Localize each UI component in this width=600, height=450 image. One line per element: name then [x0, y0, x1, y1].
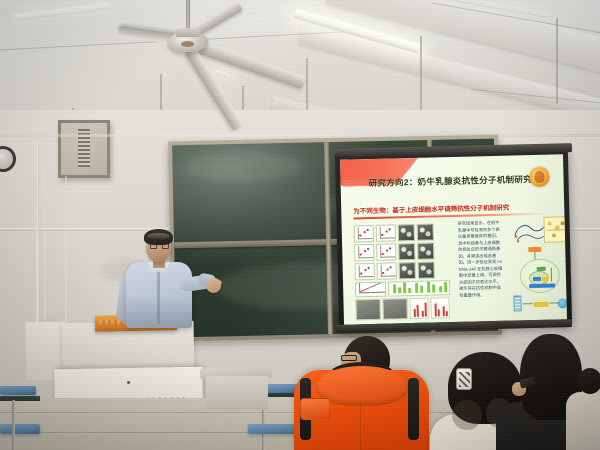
wall-ledge	[0, 134, 600, 137]
figure-panel-microscopy	[398, 243, 415, 260]
figure-panel-microscopy	[398, 224, 415, 241]
slide-figure-grid	[354, 223, 452, 317]
student-desk	[0, 386, 36, 395]
diagram-cell-body	[520, 258, 561, 293]
figure-row	[354, 242, 450, 261]
figure-row	[354, 223, 450, 242]
hair-strand	[452, 400, 482, 430]
student-seat	[0, 424, 40, 434]
figure-panel-scatter	[354, 225, 374, 242]
figure-row	[355, 297, 451, 320]
figure-panel-scatter	[355, 263, 375, 280]
presenter-shirt-placket	[157, 272, 160, 324]
figure-panel-line-chart	[355, 282, 386, 298]
diagram-arrow	[523, 303, 533, 304]
diagram-node-target-genes	[529, 284, 555, 289]
diagram-inset-box	[543, 216, 567, 243]
figure-panel-scatter	[377, 262, 397, 279]
slide-title: 研究方向2：奶牛乳腺炎抗性分子机制研究	[368, 173, 532, 189]
jacket-pocket	[300, 398, 330, 420]
figure-panel-mini-bars	[430, 297, 450, 318]
audience-body	[566, 392, 600, 450]
lecture-hall-photo: |-ω1- 2 研究方向2：奶牛乳腺炎抗性分子机制研究 为不同生物：基于上皮细胞…	[0, 0, 600, 450]
jacket-seam	[360, 404, 361, 450]
presentation-slide: 研究方向2：奶牛乳腺炎抗性分子机制研究 为不同生物：基于上皮细胞水平调筛抗性分子…	[340, 154, 567, 324]
university-emblem-icon	[529, 167, 549, 187]
diagram-arrow	[551, 268, 552, 282]
diagram-dna-icon	[513, 295, 521, 311]
diagram-node-ikk	[542, 277, 549, 281]
figure-panel-microscopy	[417, 223, 434, 240]
figure-panel-scatter	[376, 243, 396, 260]
front-table-panel	[206, 376, 268, 410]
diagram-node-effector	[534, 302, 549, 307]
presenter-gesturing-hand	[206, 278, 221, 293]
projector-screen: 研究方向2：奶牛乳腺炎抗性分子机制研究 为不同生物：基于上皮细胞水平调筛抗性分子…	[335, 149, 572, 330]
slide-body-text: 研究结果显示，在奶牛乳腺中可检测到多个表达量显著差异的基因，其中包括参与上皮细胞…	[458, 220, 506, 299]
figure-panel-scatter	[354, 244, 374, 261]
hanging-rod	[556, 18, 558, 104]
figure-panel-microscopy	[418, 261, 435, 278]
figure-panel-gel	[382, 298, 408, 320]
figure-panel-microscopy	[417, 242, 434, 259]
wall-speaker-vent	[58, 120, 110, 178]
diagram-node-p65	[537, 267, 546, 271]
figure-panel-mini-bars	[409, 298, 429, 319]
glasses-icon	[341, 355, 357, 361]
backpack-strap	[408, 378, 419, 440]
fan-motor-cap	[176, 28, 200, 37]
hair-clip	[456, 368, 472, 390]
figure-row	[355, 280, 451, 297]
chalk-smudge	[182, 151, 303, 184]
figure-panel-scatter	[376, 224, 396, 241]
signaling-pathway-diagram	[509, 216, 567, 317]
podium-screw	[127, 381, 130, 384]
desk-leg	[12, 400, 15, 450]
desk-frame	[0, 396, 40, 401]
figure-panel-bar-chart	[388, 280, 450, 297]
diagram-node-nf	[533, 277, 541, 281]
figure-row	[355, 261, 451, 280]
figure-panel-microscopy	[399, 262, 416, 279]
audience-head	[578, 368, 600, 394]
figure-panel-gel	[355, 299, 381, 321]
glasses-icon	[150, 243, 169, 249]
